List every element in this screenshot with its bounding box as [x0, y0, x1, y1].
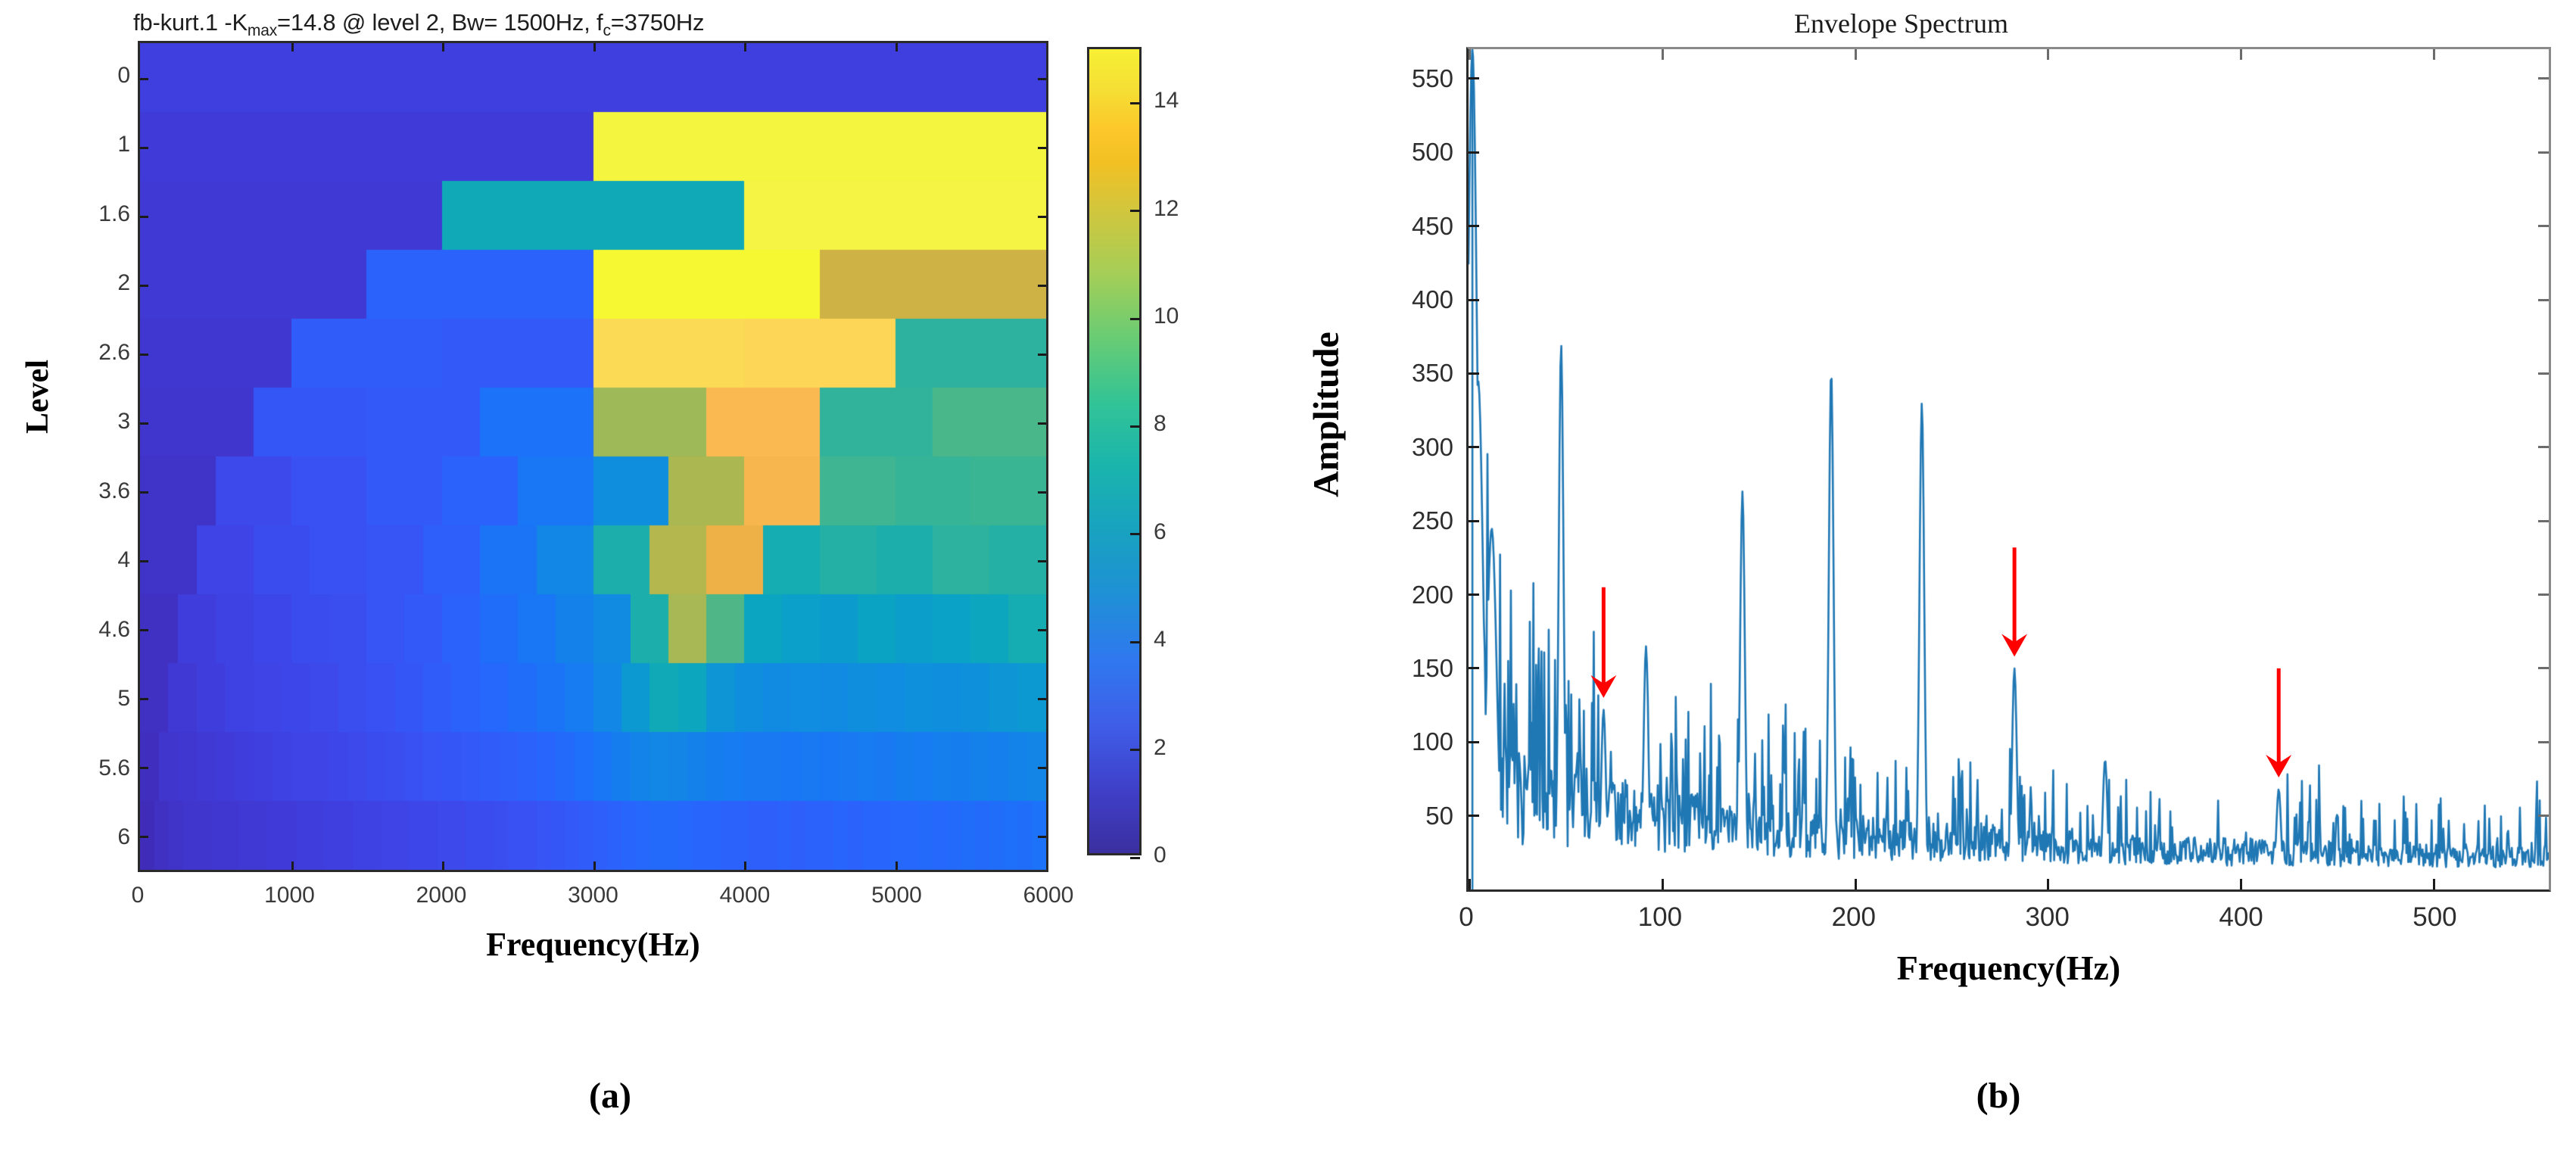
- envelope-x-tick-mark: [1855, 879, 1857, 889]
- envelope-x-tick-mark-top: [2047, 49, 2049, 60]
- subcaption-a: (a): [534, 1075, 686, 1117]
- kurtogram-x-tick-mark: [896, 861, 898, 870]
- envelope-y-tick-mark-right: [2538, 77, 2549, 79]
- kurtogram-y-tick-mark-right: [1038, 216, 1046, 218]
- colorbar-tick-0: 0: [1154, 843, 1214, 868]
- fault-frequency-arrow-icon-1: [1590, 587, 1616, 698]
- envelope-x-tick-mark: [1469, 879, 1471, 889]
- envelope-y-tick-mark: [1469, 520, 1479, 522]
- kurtogram-y-tick-mark: [140, 216, 148, 218]
- envelope-x-tick-mark: [1662, 879, 1664, 889]
- envelope-x-tick-mark-top: [2240, 49, 2242, 60]
- envelope-plot-area: [1466, 47, 2551, 892]
- kurtogram-x-tick-2000: 2000: [373, 883, 509, 908]
- kurtogram-y-tick-mark-right: [1038, 491, 1046, 494]
- envelope-x-tick-mark-top: [2433, 49, 2435, 60]
- kurtogram-y-tick-4: 4: [39, 547, 130, 573]
- envelope-y-tick-mark-right: [2538, 299, 2549, 301]
- envelope-spectrum-title: Envelope Spectrum: [1226, 8, 2576, 39]
- kurtogram-title-sub-max: max: [248, 22, 277, 39]
- kurtogram-y-tick-mark-right: [1038, 78, 1046, 80]
- kurtogram-y-tick-mark: [140, 698, 148, 700]
- kurtogram-y-tick-mark-right: [1038, 560, 1046, 562]
- fault-frequency-arrow-icon-2: [2001, 547, 2027, 656]
- colorbar-tick-mark: [1130, 749, 1140, 751]
- envelope-y-tick-350: 350: [1340, 359, 1453, 388]
- colorbar-tick-mark: [1130, 857, 1140, 859]
- envelope-y-tick-mark: [1469, 77, 1479, 79]
- colorbar-tick-mark: [1130, 425, 1140, 428]
- kurtogram-y-tick-mark: [140, 629, 148, 631]
- envelope-y-tick-mark-right: [2538, 741, 2549, 743]
- kurtogram-y-tick-2-6: 2.6: [39, 340, 130, 366]
- envelope-y-tick-mark-right: [2538, 593, 2549, 596]
- kurtogram-y-tick-mark-right: [1038, 767, 1046, 769]
- panel-b-envelope-spectrum: Envelope Spectrum Amplitude 501001502002…: [1226, 0, 2576, 1162]
- colorbar-tick-mark: [1130, 318, 1140, 320]
- colorbar-tick-mark: [1130, 102, 1140, 104]
- envelope-y-tick-50: 50: [1340, 802, 1453, 830]
- envelope-y-tick-250: 250: [1340, 506, 1453, 535]
- envelope-y-tick-300: 300: [1340, 433, 1453, 462]
- kurtogram-x-tick-mark: [291, 861, 294, 870]
- kurtogram-y-tick-labels: 011.622.633.644.655.66: [32, 41, 130, 872]
- kurtogram-colorbar: [1087, 47, 1142, 855]
- envelope-y-tick-mark: [1469, 741, 1479, 743]
- envelope-x-tick-0: 0: [1391, 902, 1542, 933]
- colorbar-tick-mark: [1130, 641, 1140, 643]
- colorbar-tick-6: 6: [1154, 519, 1214, 545]
- subcaption-b: (b): [1923, 1075, 2074, 1117]
- colorbar-tick-2: 2: [1154, 735, 1214, 761]
- envelope-x-tick-500: 500: [2359, 902, 2510, 933]
- kurtogram-y-tick-mark-right: [1038, 422, 1046, 425]
- kurtogram-y-tick-mark-right: [1038, 354, 1046, 356]
- envelope-y-tick-mark-right: [2538, 446, 2549, 448]
- kurtogram-y-tick-mark: [140, 78, 148, 80]
- kurtogram-y-tick-2: 2: [39, 270, 130, 296]
- kurtogram-y-tick-mark-right: [1038, 836, 1046, 838]
- kurtogram-y-tick-mark-right: [1038, 629, 1046, 631]
- kurtogram-y-tick-1: 1: [39, 132, 130, 157]
- kurtogram-y-tick-5: 5: [39, 686, 130, 712]
- kurtogram-y-tick-mark: [140, 767, 148, 769]
- kurtogram-y-tick-mark: [140, 491, 148, 494]
- kurtogram-x-tick-mark-top: [896, 43, 898, 51]
- envelope-y-tick-450: 450: [1340, 212, 1453, 241]
- envelope-y-tick-mark: [1469, 593, 1479, 596]
- envelope-y-tick-mark: [1469, 446, 1479, 448]
- kurtogram-x-tick-3000: 3000: [525, 883, 662, 908]
- kurtogram-y-tick-mark: [140, 354, 148, 356]
- kurtogram-y-tick-4-6: 4.6: [39, 617, 130, 643]
- colorbar-tick-10: 10: [1154, 304, 1214, 329]
- envelope-x-tick-mark-top: [1662, 49, 1664, 60]
- envelope-x-tick-mark-top: [1855, 49, 1857, 60]
- envelope-y-tick-mark-right: [2538, 372, 2549, 375]
- colorbar-tick-mark: [1130, 533, 1140, 535]
- kurtogram-x-tick-mark-top: [744, 43, 746, 51]
- kurtogram-title-sub-c: c: [603, 22, 610, 39]
- kurtogram-y-tick-mark: [140, 422, 148, 425]
- kurtogram-x-tick-mark-top: [593, 43, 596, 51]
- kurtogram-y-tick-mark: [140, 147, 148, 149]
- kurtogram-x-tick-labels: 0100020003000400050006000: [138, 883, 1048, 916]
- kurtogram-y-tick-6: 6: [39, 824, 130, 850]
- envelope-y-tick-400: 400: [1340, 285, 1453, 314]
- envelope-y-tick-mark: [1469, 299, 1479, 301]
- kurtogram-x-tick-4000: 4000: [677, 883, 813, 908]
- envelope-y-tick-mark: [1469, 225, 1479, 227]
- kurtogram-x-tick-mark: [744, 861, 746, 870]
- envelope-arrow-annotations: [1469, 49, 2549, 889]
- envelope-y-tick-mark-right: [2538, 225, 2549, 227]
- colorbar-tick-12: 12: [1154, 196, 1214, 222]
- kurtogram-heatmap-canvas: [140, 43, 1046, 870]
- kurtogram-x-axis-title: Frequency(Hz): [138, 925, 1048, 964]
- envelope-y-tick-mark: [1469, 815, 1479, 817]
- kurtogram-x-tick-0: 0: [70, 883, 206, 908]
- envelope-x-tick-200: 200: [1778, 902, 1930, 933]
- colorbar-tick-8: 8: [1154, 411, 1214, 437]
- kurtogram-x-tick-5000: 5000: [829, 883, 965, 908]
- fault-frequency-arrow-icon-3: [2266, 668, 2291, 777]
- envelope-y-tick-mark-right: [2538, 151, 2549, 154]
- envelope-x-axis-title: Frequency(Hz): [1466, 948, 2551, 988]
- envelope-y-tick-mark-right: [2538, 667, 2549, 669]
- kurtogram-title-suffix: =14.8 @ level 2, Bw= 1500Hz, f: [277, 9, 603, 36]
- kurtogram-y-tick-mark-right: [1038, 698, 1046, 700]
- kurtogram-x-tick-mark-top: [291, 43, 294, 51]
- envelope-y-tick-mark: [1469, 372, 1479, 375]
- kurtogram-x-tick-mark: [442, 861, 444, 870]
- envelope-y-tick-150: 150: [1340, 654, 1453, 683]
- kurtogram-y-tick-3-6: 3.6: [39, 478, 130, 504]
- colorbar-tick-4: 4: [1154, 627, 1214, 653]
- colorbar-tick-mark: [1130, 210, 1140, 212]
- kurtogram-y-tick-mark-right: [1038, 285, 1046, 287]
- envelope-y-tick-mark: [1469, 151, 1479, 154]
- envelope-y-tick-labels: 50100150200250300350400450500550: [1332, 47, 1453, 892]
- envelope-x-tick-mark-top: [1469, 49, 1471, 60]
- envelope-x-tick-100: 100: [1584, 902, 1736, 933]
- envelope-x-tick-mark: [2433, 879, 2435, 889]
- kurtogram-y-tick-mark-right: [1038, 147, 1046, 149]
- kurtogram-plot-area: [138, 41, 1048, 872]
- kurtogram-x-tick-mark: [593, 861, 596, 870]
- kurtogram-y-tick-3: 3: [39, 409, 130, 435]
- kurtogram-y-tick-5-6: 5.6: [39, 755, 130, 781]
- envelope-x-tick-400: 400: [2166, 902, 2317, 933]
- envelope-y-tick-mark-right: [2538, 520, 2549, 522]
- panel-a-kurtogram: fb-kurt.1 -Kmax=14.8 @ level 2, Bw= 1500…: [0, 0, 1226, 1162]
- kurtogram-title: fb-kurt.1 -Kmax=14.8 @ level 2, Bw= 1500…: [133, 9, 1095, 36]
- envelope-x-tick-mark: [2047, 879, 2049, 889]
- colorbar-tick-14: 14: [1154, 88, 1214, 114]
- kurtogram-x-tick-mark-top: [442, 43, 444, 51]
- envelope-y-tick-550: 550: [1340, 64, 1453, 93]
- kurtogram-y-tick-mark: [140, 560, 148, 562]
- envelope-x-tick-mark: [2240, 879, 2242, 889]
- envelope-y-tick-100: 100: [1340, 727, 1453, 756]
- envelope-x-tick-labels: 0100200300400500: [1466, 902, 2551, 939]
- kurtogram-y-tick-mark: [140, 836, 148, 838]
- kurtogram-title-prefix: fb-kurt.1 -K: [133, 9, 248, 36]
- kurtogram-x-tick-1000: 1000: [222, 883, 358, 908]
- envelope-y-tick-mark: [1469, 667, 1479, 669]
- kurtogram-y-tick-1-6: 1.6: [39, 201, 130, 227]
- envelope-y-tick-500: 500: [1340, 138, 1453, 167]
- envelope-x-tick-300: 300: [1972, 902, 2123, 933]
- kurtogram-title-suffix2: =3750Hz: [611, 9, 705, 36]
- kurtogram-x-tick-6000: 6000: [980, 883, 1117, 908]
- kurtogram-y-tick-0: 0: [39, 63, 130, 89]
- kurtogram-y-tick-mark: [140, 285, 148, 287]
- envelope-y-tick-mark-right: [2538, 815, 2549, 817]
- envelope-y-tick-200: 200: [1340, 581, 1453, 609]
